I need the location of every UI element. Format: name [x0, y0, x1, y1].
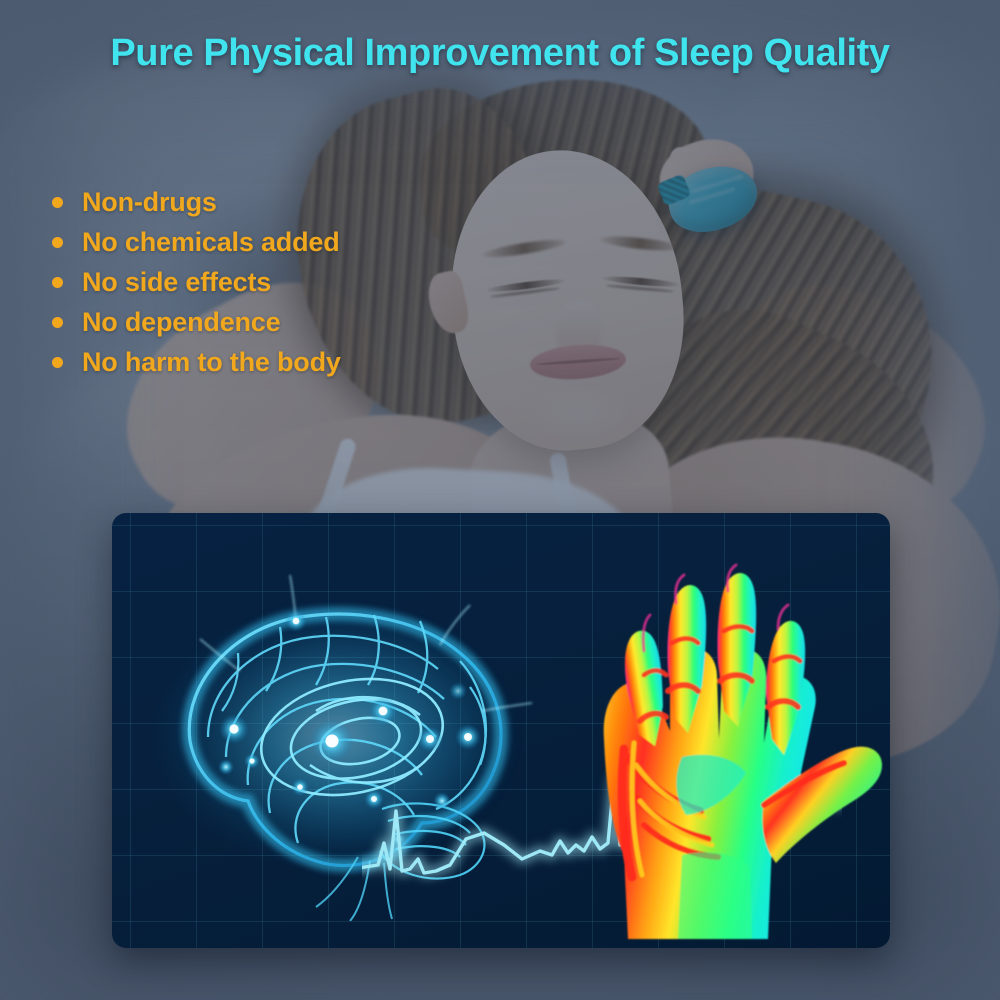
list-item-label: Non-drugs	[82, 187, 217, 218]
bullet-dot-icon	[52, 197, 63, 208]
bullet-dot-icon	[52, 357, 63, 368]
list-item: No harm to the body	[52, 342, 572, 382]
list-item-label: No harm to the body	[82, 347, 341, 378]
benefits-list: Non-drugs No chemicals added No side eff…	[52, 182, 572, 382]
list-item-label: No dependence	[82, 307, 280, 338]
technology-illustration-panel	[112, 513, 890, 948]
list-item-label: No side effects	[82, 267, 271, 298]
bullet-dot-icon	[52, 277, 63, 288]
list-item-label: No chemicals added	[82, 227, 340, 258]
thermal-hand-icon	[532, 525, 890, 948]
list-item: Non-drugs	[52, 182, 572, 222]
bullet-dot-icon	[52, 317, 63, 328]
list-item: No side effects	[52, 262, 572, 302]
bullet-dot-icon	[52, 237, 63, 248]
page-title: Pure Physical Improvement of Sleep Quali…	[0, 32, 1000, 75]
list-item: No dependence	[52, 302, 572, 342]
poster-canvas: Pure Physical Improvement of Sleep Quali…	[0, 0, 1000, 1000]
list-item: No chemicals added	[52, 222, 572, 262]
